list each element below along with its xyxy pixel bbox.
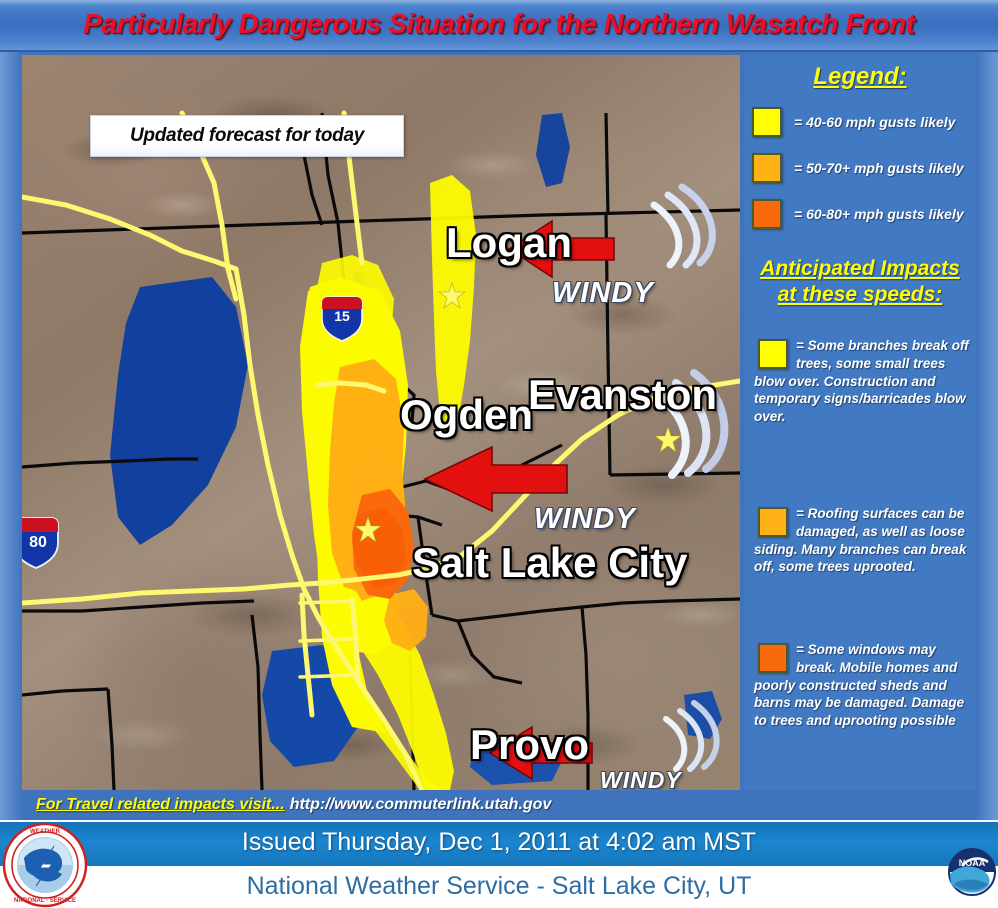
- nws-logo: WEATHER NATIONAL · SERVICE: [2, 822, 88, 908]
- map-vectors: 15 80: [22, 55, 740, 790]
- city-label-salt-lake-city: Salt Lake City: [412, 539, 687, 587]
- svg-text:WEATHER: WEATHER: [30, 829, 61, 835]
- issued-timestamp: Issued Thursday, Dec 1, 2011 at 4:02 am …: [0, 828, 998, 857]
- office-name: National Weather Service - Salt Lake Cit…: [0, 872, 998, 901]
- wind-swoosh-logan: [654, 187, 712, 265]
- city-label-provo: Provo: [470, 721, 589, 769]
- interstate-shield-80: 80: [22, 518, 58, 568]
- travel-url-link[interactable]: http://www.commuterlink.utah.gov: [290, 796, 552, 814]
- left-edge-gradient: [0, 52, 22, 820]
- svg-text:15: 15: [334, 308, 350, 324]
- legend-swatch-deep-orange: [752, 199, 782, 229]
- wind-arrow-slc: [425, 447, 567, 511]
- great-salt-lake: [110, 277, 248, 545]
- impact-item-deep-orange: = Some windows may break. Mobile homes a…: [754, 641, 970, 730]
- legend-label-orange: = 50-70+ mph gusts likely: [794, 160, 964, 176]
- impact-swatch-orange: [758, 507, 788, 537]
- svg-text:NATIONAL · SERVICE: NATIONAL · SERVICE: [14, 898, 76, 904]
- legend-item-orange: = 50-70+ mph gusts likely: [752, 153, 964, 183]
- impact-item-yellow: = Some branches break off trees, some sm…: [754, 337, 970, 426]
- legend-swatch-yellow: [752, 107, 782, 137]
- windy-label-slc: WINDY: [534, 503, 636, 536]
- impacts-heading-line1: Anticipated Impacts: [744, 257, 976, 281]
- impact-swatch-deep-orange: [758, 643, 788, 673]
- city-label-ogden: Ogden: [400, 391, 533, 439]
- svg-text:80: 80: [29, 534, 47, 551]
- updated-forecast-text: Updated forecast for today: [130, 125, 364, 147]
- svg-text:NOAA: NOAA: [959, 858, 986, 868]
- legend-label-deep-orange: = 60-80+ mph gusts likely: [794, 206, 964, 222]
- impact-swatch-yellow: [758, 339, 788, 369]
- forecast-map[interactable]: 15 80 Logan Ogden Evanston Salt Lake Cit…: [22, 55, 740, 790]
- city-label-logan: Logan: [446, 219, 572, 267]
- footer: Issued Thursday, Dec 1, 2011 at 4:02 am …: [0, 820, 998, 908]
- legend-panel: Legend: = 40-60 mph gusts likely = 50-70…: [744, 55, 976, 790]
- updated-forecast-box: Updated forecast for today: [90, 115, 404, 157]
- legend-item-deep-orange: = 60-80+ mph gusts likely: [752, 199, 964, 229]
- windy-label-logan: WINDY: [552, 277, 654, 310]
- travel-prefix-text: For Travel related impacts visit...: [36, 796, 285, 814]
- weather-graphic: Particularly Dangerous Situation for the…: [0, 0, 998, 908]
- impacts-heading-line2: at these speeds:: [744, 283, 976, 307]
- right-edge-gradient: [976, 52, 998, 820]
- bear-lake: [536, 113, 570, 187]
- legend-item-yellow: = 40-60 mph gusts likely: [752, 107, 955, 137]
- legend-swatch-orange: [752, 153, 782, 183]
- page-title: Particularly Dangerous Situation for the…: [0, 8, 998, 40]
- windy-label-provo: WINDY: [600, 767, 682, 790]
- title-bar: Particularly Dangerous Situation for the…: [0, 0, 998, 52]
- noaa-logo: NOAA: [948, 822, 996, 908]
- legend-heading: Legend:: [744, 63, 976, 91]
- travel-info-bar: For Travel related impacts visit... http…: [22, 790, 976, 820]
- legend-label-yellow: = 40-60 mph gusts likely: [794, 114, 955, 130]
- impact-item-orange: = Roofing surfaces can be damaged, as we…: [754, 505, 970, 576]
- city-label-evanston: Evanston: [528, 371, 717, 419]
